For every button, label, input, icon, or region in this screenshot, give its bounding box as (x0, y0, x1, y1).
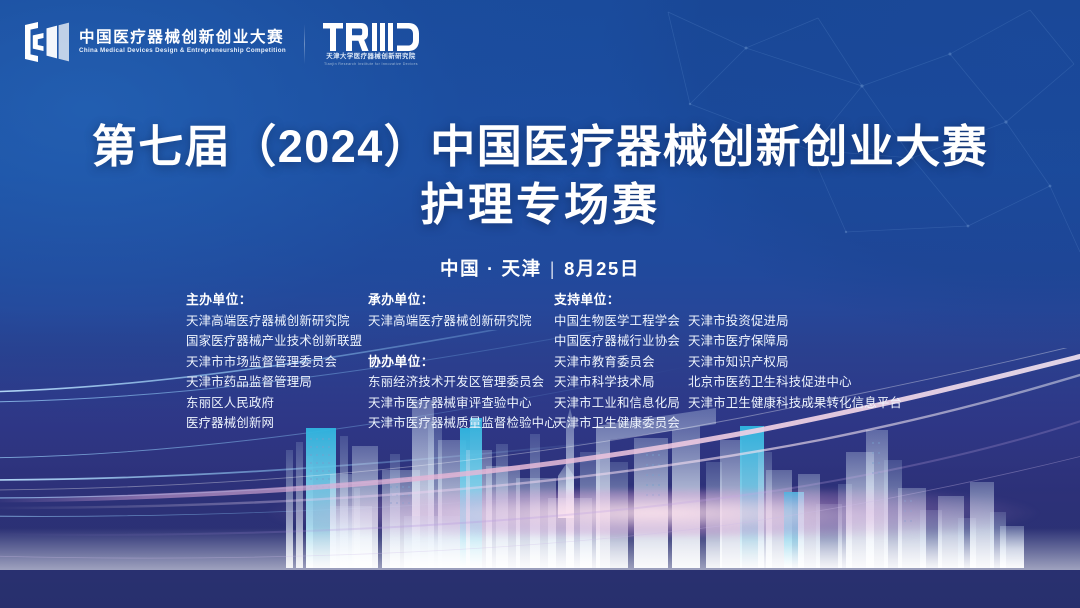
organizer-column-1: 主办单位： 天津高端医疗器械创新研究院 国家医疗器械产业技术创新联盟 天津市市场… (186, 290, 368, 434)
poster-title: 第七届（2024）中国医疗器械创新创业大赛 护理专场赛 (0, 118, 1080, 233)
organizer-item: 天津市市场监督管理委员会 (186, 352, 368, 373)
date-text: 8月25日 (564, 258, 640, 279)
coorganizer-item: 东丽经济技术开发区管理委员会 (368, 372, 554, 393)
supporter-heading: 支持单位： (554, 290, 688, 311)
organizer-column-4: 天津市投资促进局 天津市医疗保障局 天津市知识产权局 北京市医药卫生科技促进中心… (688, 290, 898, 413)
triid-wordmark-icon (323, 23, 419, 51)
institute-logo-cn: 天津大学医疗器械创新研究院 (326, 54, 416, 60)
supporter-item: 中国生物医学工程学会 (554, 311, 688, 332)
supporter-item: 天津市卫生健康委员会 (554, 413, 688, 434)
coorganizer-item: 天津市医疗器械质量监督检验中心 (368, 413, 554, 434)
supporter-item: 中国医疗器械行业协会 (554, 331, 688, 352)
coorganizer-heading: 协办单位： (368, 352, 554, 373)
location-date-row: 中国 · 天津|8月25日 (0, 255, 1080, 281)
organizer-columns: 主办单位： 天津高端医疗器械创新研究院 国家医疗器械产业技术创新联盟 天津市市场… (186, 290, 898, 434)
title-line-2: 护理专场赛 (0, 176, 1080, 234)
column-spacer (688, 290, 898, 311)
location-text: 中国 · 天津 (440, 258, 542, 279)
poster-canvas: 中国医疗器械创新创业大赛 China Medical Devices Desig… (0, 0, 1080, 608)
header-logos: 中国医疗器械创新创业大赛 China Medical Devices Desig… (24, 22, 419, 67)
supporter-item: 天津市教育委员会 (554, 352, 688, 373)
logo-divider (304, 24, 305, 64)
organizer-item: 国家医疗器械产业技术创新联盟 (186, 331, 368, 352)
organizer-column-3: 支持单位： 中国生物医学工程学会 中国医疗器械行业协会 天津市教育委员会 天津市… (554, 290, 688, 434)
organizer-item: 天津高端医疗器械创新研究院 (186, 311, 368, 332)
organizer-heading: 主办单位： (186, 290, 368, 311)
organizer-column-2: 承办单位： 天津高端医疗器械创新研究院 协办单位： 东丽经济技术开发区管理委员会… (368, 290, 554, 434)
organizer-item: 天津市药品监督管理局 (186, 372, 368, 393)
meta-separator: | (550, 258, 556, 280)
supporter-item: 天津市科学技术局 (554, 372, 688, 393)
host-heading: 承办单位： (368, 290, 554, 311)
competition-logo-cn: 中国医疗器械创新创业大赛 (79, 30, 286, 46)
host-item: 天津高端医疗器械创新研究院 (368, 311, 554, 332)
organizer-item: 医疗器械创新网 (186, 413, 368, 434)
supporter-item: 天津市卫生健康科技成果转化信息平台 (688, 393, 898, 414)
supporter-item: 天津市医疗保障局 (688, 331, 898, 352)
institute-logo: 天津大学医疗器械创新研究院 Tianjin Research Institute… (323, 22, 419, 67)
institute-logo-en: Tianjin Research Institute for Innovativ… (324, 63, 418, 67)
coorganizer-item: 天津市医疗器械审评查验中心 (368, 393, 554, 414)
competition-logo: 中国医疗器械创新创业大赛 China Medical Devices Desig… (24, 22, 286, 62)
supporter-item: 北京市医药卫生科技促进中心 (688, 372, 898, 393)
supporter-item: 天津市投资促进局 (688, 311, 898, 332)
competition-logo-en: China Medical Devices Design & Entrepren… (79, 48, 286, 54)
title-line-1: 第七届（2024）中国医疗器械创新创业大赛 (0, 118, 1080, 176)
supporter-item: 天津市知识产权局 (688, 352, 898, 373)
organizer-item: 东丽区人民政府 (186, 393, 368, 414)
column-spacer (368, 331, 554, 352)
supporter-item: 天津市工业和信息化局 (554, 393, 688, 414)
open-book-door-logo-icon (24, 22, 70, 62)
